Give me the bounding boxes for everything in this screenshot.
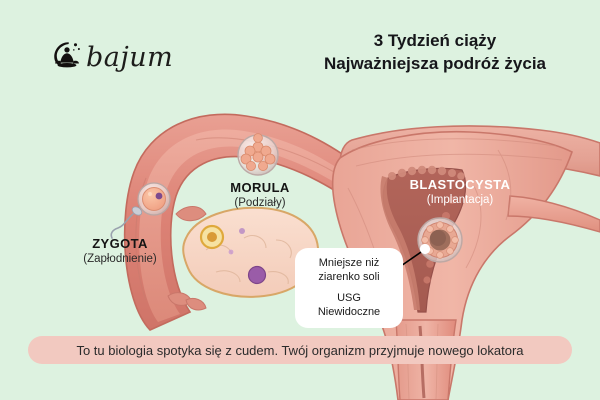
follicle-icon <box>249 267 266 284</box>
label-zygota-subtitle: (Zapłodnienie) <box>50 253 190 267</box>
label-morula-title: MORULA <box>200 180 320 196</box>
page-title: 3 Tydzień ciąży Najważniejsza podróż życ… <box>290 30 580 75</box>
morula-cell-cluster-icon <box>238 134 278 175</box>
callout-line-1: Mniejsze niż <box>301 256 397 270</box>
label-zygota: ZYGOTA (Zapłodnienie) <box>50 236 190 266</box>
crescent-moon-meditation-icon <box>50 38 84 72</box>
label-morula-subtitle: (Podziały) <box>200 197 320 211</box>
label-zygota-title: ZYGOTA <box>50 236 190 252</box>
brand-logo[interactable]: bajum <box>50 38 173 72</box>
label-blastocysta: BLASTOCYSTA (Implantacja) <box>380 177 540 207</box>
infographic-canvas: bajum 3 Tydzień ciąży Najważniejsza podr… <box>0 0 600 400</box>
callout-line-4: Niewidoczne <box>301 305 397 319</box>
label-blastocysta-subtitle: (Implantacja) <box>380 194 540 208</box>
bottom-banner-text: To tu biologia spotyka się z cudem. Twój… <box>76 343 523 358</box>
blastocyst-icon <box>418 218 462 262</box>
callout-box: Mniejsze niż ziarenko soli USG Niewidocz… <box>295 248 403 328</box>
title-line-2: Najważniejsza podróż życia <box>290 53 580 76</box>
callout-line-2: ziarenko soli <box>301 270 397 284</box>
callout-line-3: USG <box>301 291 397 305</box>
label-blastocysta-title: BLASTOCYSTA <box>380 177 540 193</box>
bottom-banner: To tu biologia spotyka się z cudem. Twój… <box>28 336 572 364</box>
title-line-1: 3 Tydzień ciąży <box>290 30 580 53</box>
label-morula: MORULA (Podziały) <box>200 180 320 210</box>
brand-name: bajum <box>86 44 173 71</box>
